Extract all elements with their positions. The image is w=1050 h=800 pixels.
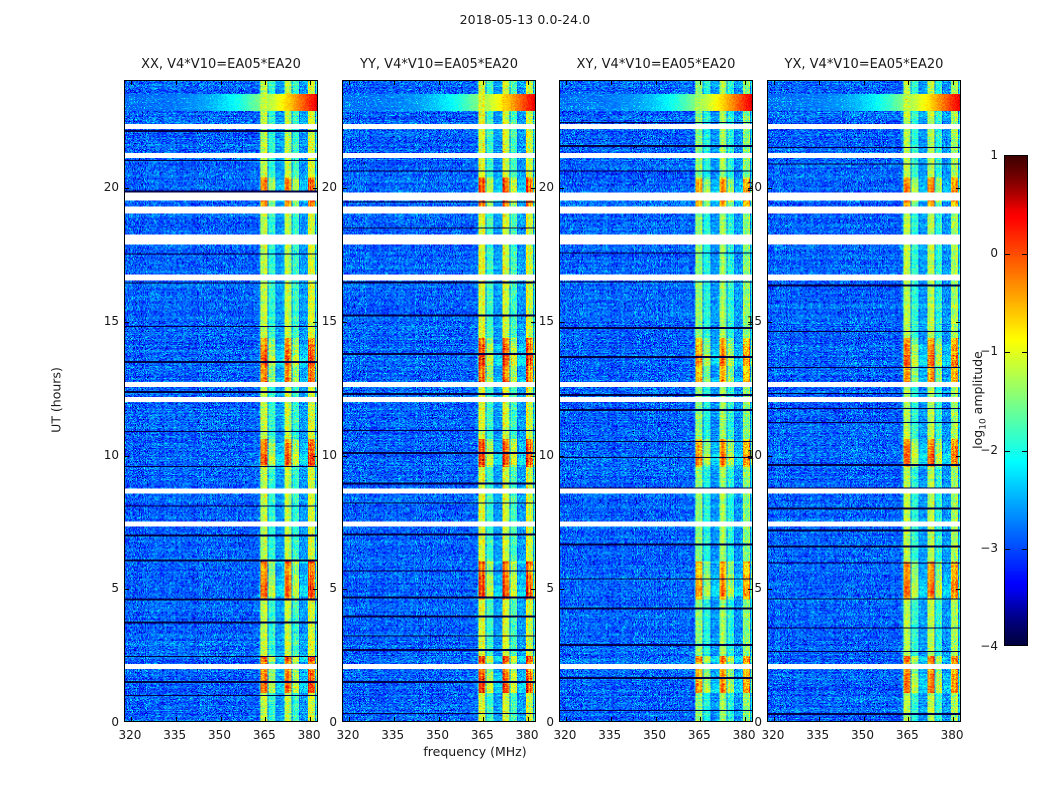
y-tick-label: 10 <box>539 448 554 462</box>
y-tick-label: 20 <box>539 180 554 194</box>
x-tick-mark <box>953 81 954 85</box>
panel-xy-axes[interactable] <box>559 80 753 722</box>
x-tick-mark <box>349 717 350 721</box>
panel-yx-title: YX, V4*V10=EA05*EA20 <box>737 57 991 72</box>
y-tick-label: 15 <box>104 314 119 328</box>
y-tick-label: 20 <box>104 180 119 194</box>
colorbar-tick-mark <box>1005 352 1010 353</box>
panel-xx-title: XX, V4*V10=EA05*EA20 <box>94 57 348 72</box>
x-tick-mark <box>265 717 266 721</box>
y-tick-mark <box>956 188 960 189</box>
colorbar-tick-mark <box>1005 549 1010 550</box>
x-tick-label: 335 <box>598 728 621 742</box>
y-tick-mark <box>313 188 317 189</box>
panel-yy-title: YY, V4*V10=EA05*EA20 <box>312 57 566 72</box>
colorbar-tick-mark <box>1022 254 1027 255</box>
x-tick-mark <box>864 81 865 85</box>
x-tick-mark <box>176 717 177 721</box>
x-tick-mark <box>908 81 909 85</box>
x-tick-mark <box>745 717 746 721</box>
x-tick-label: 320 <box>554 728 577 742</box>
y-tick-label: 5 <box>111 581 119 595</box>
panel-yx: YX, V4*V10=EA05*EA20 0510152032033535036… <box>767 80 961 722</box>
x-tick-label: 365 <box>896 728 919 742</box>
x-tick-mark <box>349 81 350 85</box>
x-tick-label: 365 <box>688 728 711 742</box>
x-tick-mark <box>176 81 177 85</box>
y-tick-mark <box>313 589 317 590</box>
x-tick-label: 380 <box>733 728 756 742</box>
y-tick-mark <box>768 188 772 189</box>
x-tick-mark <box>566 81 567 85</box>
x-tick-mark <box>439 717 440 721</box>
y-tick-mark <box>343 188 347 189</box>
x-tick-mark <box>700 81 701 85</box>
colorbar-tick-mark <box>1005 451 1010 452</box>
y-tick-label: 20 <box>322 180 337 194</box>
y-tick-mark <box>531 322 535 323</box>
x-tick-label: 380 <box>298 728 321 742</box>
x-tick-label: 320 <box>119 728 142 742</box>
y-tick-mark <box>531 589 535 590</box>
y-tick-mark <box>125 456 129 457</box>
colorbar-label-tail: amplitude <box>970 351 985 418</box>
x-tick-mark <box>439 81 440 85</box>
y-tick-mark <box>560 322 564 323</box>
y-tick-mark <box>531 188 535 189</box>
y-tick-mark <box>343 589 347 590</box>
x-tick-mark <box>310 717 311 721</box>
colorbar-tick-mark <box>1022 549 1027 550</box>
y-tick-mark <box>956 589 960 590</box>
y-tick-mark <box>125 322 129 323</box>
x-tick-mark <box>656 717 657 721</box>
colorbar-tick-label: 1 <box>990 148 998 162</box>
x-tick-label: 350 <box>208 728 231 742</box>
colorbar-tick-label: −4 <box>980 639 998 653</box>
x-tick-mark <box>394 717 395 721</box>
y-tick-mark <box>560 589 564 590</box>
colorbar-label: log10 amplitude <box>970 351 989 449</box>
x-tick-mark <box>819 81 820 85</box>
x-tick-mark <box>265 81 266 85</box>
x-tick-mark <box>864 717 865 721</box>
y-tick-mark <box>956 322 960 323</box>
colorbar-tick-label: −3 <box>980 541 998 555</box>
x-axis-label: frequency (MHz) <box>0 744 950 759</box>
x-tick-mark <box>528 81 529 85</box>
x-tick-mark <box>745 81 746 85</box>
y-tick-mark <box>313 322 317 323</box>
y-tick-label: 10 <box>747 448 762 462</box>
x-tick-mark <box>953 717 954 721</box>
x-tick-mark <box>611 81 612 85</box>
x-tick-label: 380 <box>516 728 539 742</box>
y-tick-mark <box>560 188 564 189</box>
colorbar-tick-mark <box>1022 352 1027 353</box>
y-tick-mark <box>768 589 772 590</box>
y-tick-mark <box>956 456 960 457</box>
panel-yx-axes[interactable] <box>767 80 961 722</box>
figure-suptitle: 2018-05-13 0.0-24.0 <box>0 12 1050 27</box>
y-tick-mark <box>125 589 129 590</box>
x-tick-mark <box>221 81 222 85</box>
y-tick-label: 10 <box>322 448 337 462</box>
y-tick-label: 20 <box>747 180 762 194</box>
panel-yy-axes[interactable] <box>342 80 536 722</box>
y-tick-mark <box>313 456 317 457</box>
x-tick-mark <box>483 717 484 721</box>
colorbar-label-subscript: 10 <box>978 418 988 429</box>
x-tick-mark <box>774 81 775 85</box>
x-tick-mark <box>611 717 612 721</box>
x-tick-mark <box>566 717 567 721</box>
x-tick-mark <box>483 81 484 85</box>
y-tick-label: 0 <box>546 715 554 729</box>
y-tick-label: 10 <box>104 448 119 462</box>
x-tick-label: 350 <box>851 728 874 742</box>
y-tick-label: 0 <box>754 715 762 729</box>
colorbar: −4−3−2−101 <box>1004 155 1028 646</box>
figure-canvas: 2018-05-13 0.0-24.0 UT (hours) frequency… <box>0 0 1050 800</box>
x-tick-label: 365 <box>471 728 494 742</box>
x-tick-label: 335 <box>381 728 404 742</box>
x-tick-mark <box>656 81 657 85</box>
x-tick-mark <box>394 81 395 85</box>
x-tick-mark <box>310 81 311 85</box>
x-tick-mark <box>908 717 909 721</box>
colorbar-label-text: log <box>970 430 985 449</box>
panel-xy: XY, V4*V10=EA05*EA20 0510152032033535036… <box>559 80 753 722</box>
y-tick-label: 0 <box>111 715 119 729</box>
x-tick-label: 350 <box>643 728 666 742</box>
x-tick-label: 335 <box>163 728 186 742</box>
y-tick-mark <box>531 456 535 457</box>
colorbar-gradient <box>1004 155 1028 646</box>
x-tick-mark <box>131 81 132 85</box>
panel-xx: XX, V4*V10=EA05*EA20 0510152032033535036… <box>124 80 318 722</box>
panel-yy: YY, V4*V10=EA05*EA20 0510152032033535036… <box>342 80 536 722</box>
x-tick-mark <box>221 717 222 721</box>
y-tick-label: 15 <box>539 314 554 328</box>
y-tick-label: 15 <box>322 314 337 328</box>
y-tick-mark <box>343 322 347 323</box>
y-tick-label: 5 <box>329 581 337 595</box>
x-tick-mark <box>774 717 775 721</box>
colorbar-tick-mark <box>1005 254 1010 255</box>
x-tick-label: 335 <box>806 728 829 742</box>
panel-xx-axes[interactable] <box>124 80 318 722</box>
x-tick-label: 320 <box>762 728 785 742</box>
y-tick-mark <box>560 456 564 457</box>
colorbar-tick-mark <box>1022 451 1027 452</box>
x-tick-mark <box>700 717 701 721</box>
x-tick-label: 350 <box>426 728 449 742</box>
y-tick-mark <box>343 456 347 457</box>
y-axis-label: UT (hours) <box>49 367 64 433</box>
x-tick-mark <box>131 717 132 721</box>
x-tick-mark <box>819 717 820 721</box>
y-tick-label: 5 <box>546 581 554 595</box>
x-tick-mark <box>528 717 529 721</box>
x-tick-label: 320 <box>337 728 360 742</box>
y-tick-label: 5 <box>754 581 762 595</box>
x-tick-label: 365 <box>253 728 276 742</box>
y-tick-mark <box>768 456 772 457</box>
x-tick-label: 380 <box>941 728 964 742</box>
y-tick-mark <box>768 322 772 323</box>
colorbar-tick-label: 0 <box>990 246 998 260</box>
y-tick-label: 15 <box>747 314 762 328</box>
y-tick-label: 0 <box>329 715 337 729</box>
y-tick-mark <box>125 188 129 189</box>
y-tick-mark <box>748 589 752 590</box>
